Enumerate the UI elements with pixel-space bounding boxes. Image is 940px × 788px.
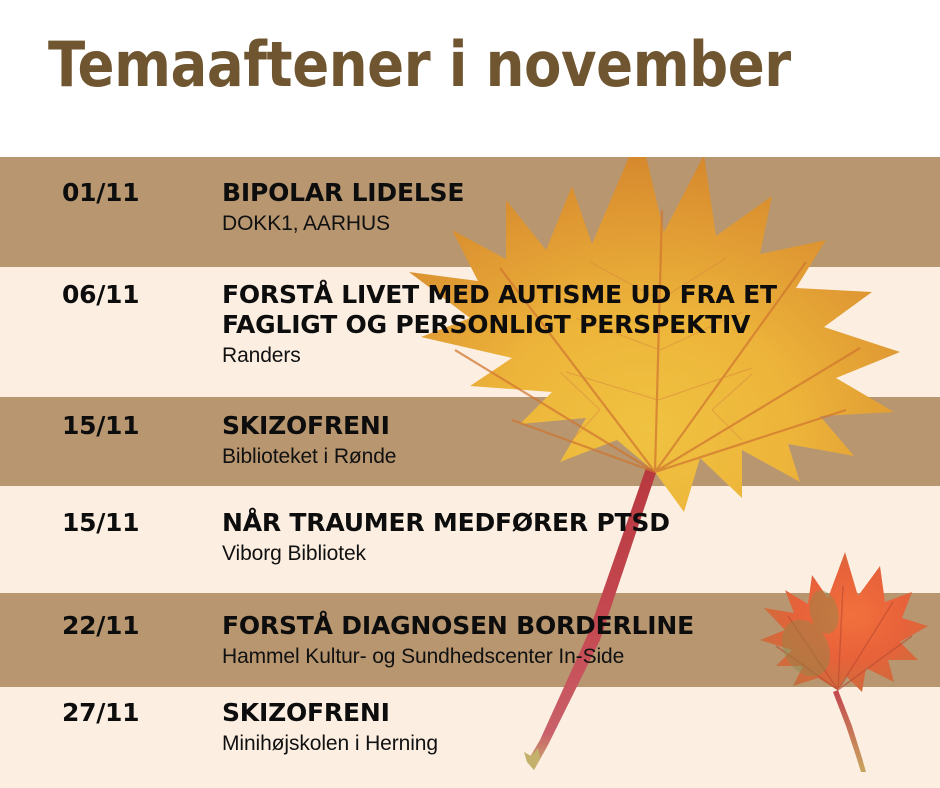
poster-header: Temaaftener i november (0, 0, 940, 157)
event-venue: Randers (222, 342, 922, 369)
event-date: 15/11 (62, 411, 139, 441)
event-title: NÅR TRAUMER MEDFØRER PTSD (222, 508, 922, 538)
event-venue: Biblioteket i Rønde (222, 443, 922, 470)
event-title: FORSTÅ DIAGNOSEN BORDERLINE (222, 611, 922, 641)
event-body: FORSTÅ DIAGNOSEN BORDERLINE Hammel Kultu… (222, 611, 922, 670)
event-title: BIPOLAR LIDELSE (222, 178, 922, 208)
event-title: SKIZOFRENI (222, 411, 922, 441)
event-date: 27/11 (62, 698, 139, 728)
event-date: 01/11 (62, 178, 139, 208)
event-date: 15/11 (62, 508, 139, 538)
event-venue: Minihøjskolen i Herning (222, 730, 922, 757)
event-body: BIPOLAR LIDELSE DOKK1, AARHUS (222, 178, 922, 237)
poster-canvas: Temaaftener i november 01/11 BIPOLAR LID… (0, 0, 940, 788)
event-date: 06/11 (62, 280, 139, 310)
event-body: SKIZOFRENI Biblioteket i Rønde (222, 411, 922, 470)
event-venue: Hammel Kultur- og Sundhedscenter In-Side (222, 643, 922, 670)
page-title: Temaaftener i november (48, 26, 791, 104)
event-date: 22/11 (62, 611, 139, 641)
event-venue: Viborg Bibliotek (222, 540, 922, 567)
event-venue: DOKK1, AARHUS (222, 210, 922, 237)
event-body: SKIZOFRENI Minihøjskolen i Herning (222, 698, 922, 757)
event-title: SKIZOFRENI (222, 698, 922, 728)
event-body: NÅR TRAUMER MEDFØRER PTSD Viborg Bibliot… (222, 508, 922, 567)
event-title: FORSTÅ LIVET MED AUTISME UD FRA ET FAGLI… (222, 280, 922, 340)
event-body: FORSTÅ LIVET MED AUTISME UD FRA ET FAGLI… (222, 280, 922, 369)
